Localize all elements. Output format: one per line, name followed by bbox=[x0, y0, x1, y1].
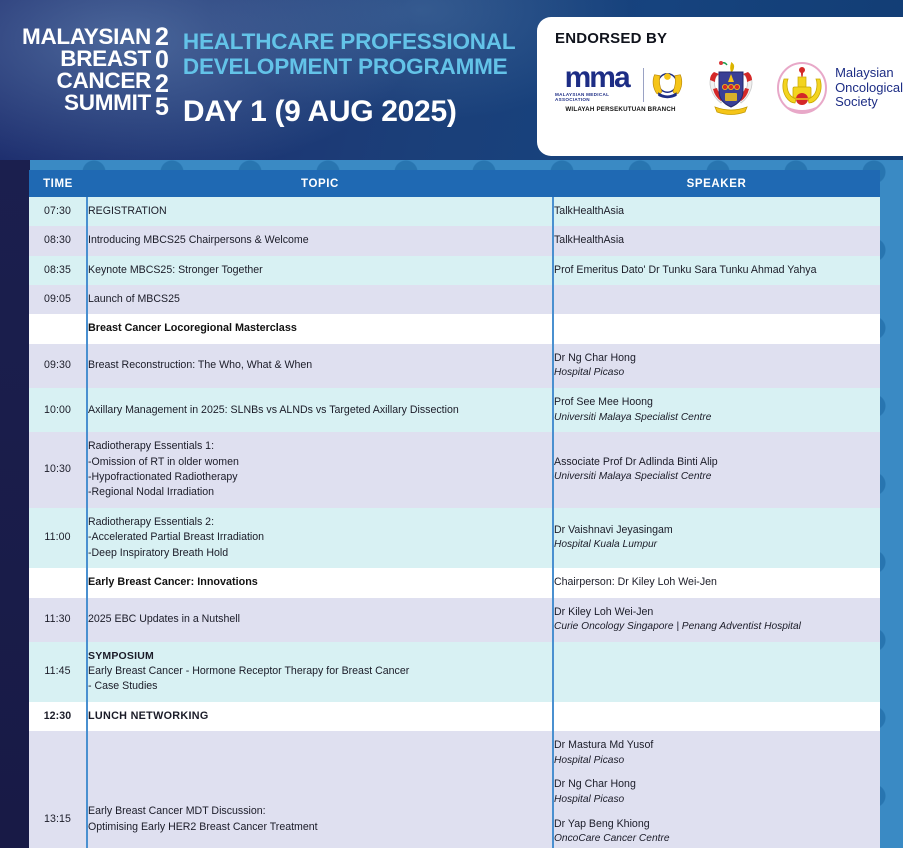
cell-speaker: Dr Vaishnavi JeyasingamHospital Kuala Lu… bbox=[553, 508, 880, 568]
cell-speaker: Chairperson: Dr Kiley Loh Wei-Jen bbox=[553, 568, 880, 598]
malaysian-oncological-society-logo: Malaysian Oncological Society bbox=[776, 61, 903, 115]
speaker-name: Dr Mastura Md Yusof bbox=[554, 738, 880, 753]
table-row: 10:00Axillary Management in 2025: SLNBs … bbox=[29, 388, 880, 432]
college-crest-logo bbox=[704, 59, 758, 117]
speaker-affiliation: Hospital Picaso bbox=[554, 754, 880, 769]
speaker-name: TalkHealthAsia bbox=[554, 233, 880, 248]
banner-titles: HEALTHCARE PROFESSIONAL DEVELOPMENT PROG… bbox=[183, 26, 516, 129]
cell-time: 10:30 bbox=[29, 432, 87, 507]
event-logo-year: 2 0 2 5 bbox=[155, 26, 169, 119]
agenda-page: MALAYSIAN BREAST CANCER SUMMIT 2 0 2 5 H… bbox=[0, 0, 903, 848]
schedule-table-body: 07:30REGISTRATIONTalkHealthAsia08:30Intr… bbox=[29, 197, 880, 848]
cell-topic: Introducing MBCS25 Chairpersons & Welcom… bbox=[87, 226, 553, 255]
logo-word-summit: SUMMIT bbox=[64, 92, 151, 114]
cell-time: 11:00 bbox=[29, 508, 87, 568]
column-header-topic: TOPIC bbox=[87, 170, 553, 197]
speaker-name: TalkHealthAsia bbox=[554, 204, 880, 219]
topic-line: -Deep Inspiratory Breath Hold bbox=[88, 546, 552, 561]
mma-logo: mma MALAYSIAN MEDICAL ASSOCIATION WILAYA… bbox=[555, 64, 686, 113]
speaker-entry: TalkHealthAsia bbox=[554, 204, 880, 219]
topic-line: Breast Reconstruction: The Who, What & W… bbox=[88, 358, 552, 373]
topic-line: -Accelerated Partial Breast Irradiation bbox=[88, 530, 552, 545]
topic-line: SYMPOSIUM bbox=[88, 649, 552, 664]
mos-line-2: Oncological bbox=[835, 81, 903, 96]
cell-speaker bbox=[553, 702, 880, 732]
table-row: 12:30LUNCH NETWORKING bbox=[29, 702, 880, 732]
topic-line: Radiotherapy Essentials 1: bbox=[88, 439, 552, 454]
topic-line: Early Breast Cancer - Hormone Receptor T… bbox=[88, 664, 552, 679]
mma-branch-label: WILAYAH PERSEKUTUAN BRANCH bbox=[565, 106, 675, 113]
cell-time bbox=[29, 568, 87, 598]
table-row: 11:45SYMPOSIUMEarly Breast Cancer - Horm… bbox=[29, 642, 880, 702]
endorser-logo-row: mma MALAYSIAN MEDICAL ASSOCIATION WILAYA… bbox=[555, 59, 903, 117]
table-row: 09:05Launch of MBCS25 bbox=[29, 285, 880, 314]
cell-speaker: TalkHealthAsia bbox=[553, 197, 880, 226]
topic-line: Keynote MBCS25: Stronger Together bbox=[88, 263, 552, 278]
topic-line: Early Breast Cancer MDT Discussion: bbox=[88, 804, 552, 819]
topic-line: -Hypofractionated Radiotherapy bbox=[88, 470, 552, 485]
speaker-entry: TalkHealthAsia bbox=[554, 233, 880, 248]
speaker-affiliation: Universiti Malaya Specialist Centre bbox=[554, 411, 880, 426]
cell-time: 11:30 bbox=[29, 598, 87, 642]
speaker-entry: Prof See Mee HoongUniversiti Malaya Spec… bbox=[554, 395, 880, 425]
cell-topic: Radiotherapy Essentials 1:-Omission of R… bbox=[87, 432, 553, 507]
speaker-entry: Dr Ng Char HongHospital Picaso bbox=[554, 351, 880, 381]
cell-topic: 2025 EBC Updates in a Nutshell bbox=[87, 598, 553, 642]
programme-title-line-2: DEVELOPMENT PROGRAMME bbox=[183, 54, 516, 79]
cell-topic: Keynote MBCS25: Stronger Together bbox=[87, 256, 553, 285]
cell-topic: Launch of MBCS25 bbox=[87, 285, 553, 314]
mos-crest-icon bbox=[776, 61, 828, 115]
endorsed-by-card: ENDORSED BY mma MALAYSIAN MEDICAL ASSOCI… bbox=[537, 17, 903, 156]
speaker-entry: Dr Ng Char HongHospital Picaso bbox=[554, 777, 880, 807]
speaker-affiliation: Hospital Picaso bbox=[554, 366, 880, 381]
topic-line: Introducing MBCS25 Chairpersons & Welcom… bbox=[88, 233, 552, 248]
speaker-name: Dr Ng Char Hong bbox=[554, 351, 880, 366]
cell-topic: Axillary Management in 2025: SLNBs vs AL… bbox=[87, 388, 553, 432]
cell-topic: SYMPOSIUMEarly Breast Cancer - Hormone R… bbox=[87, 642, 553, 702]
speaker-name: Chairperson: Dr Kiley Loh Wei-Jen bbox=[554, 575, 880, 590]
programme-title-line-1: HEALTHCARE PROFESSIONAL bbox=[183, 29, 516, 54]
table-row: Early Breast Cancer: InnovationsChairper… bbox=[29, 568, 880, 598]
cell-time: 09:05 bbox=[29, 285, 87, 314]
cell-topic: LUNCH NETWORKING bbox=[87, 702, 553, 732]
speaker-entry: Associate Prof Dr Adlinda Binti AlipUniv… bbox=[554, 455, 880, 485]
cell-topic: Breast Cancer Locoregional Masterclass bbox=[87, 314, 553, 344]
table-row: 11:302025 EBC Updates in a NutshellDr Ki… bbox=[29, 598, 880, 642]
event-logo-words: MALAYSIAN BREAST CANCER SUMMIT bbox=[22, 26, 151, 114]
speaker-name: Dr Ng Char Hong bbox=[554, 777, 880, 792]
speaker-name: Associate Prof Dr Adlinda Binti Alip bbox=[554, 455, 880, 470]
table-row: 10:30Radiotherapy Essentials 1:-Omission… bbox=[29, 432, 880, 507]
endorsed-by-title: ENDORSED BY bbox=[555, 30, 903, 47]
speaker-name: Dr Vaishnavi Jeyasingam bbox=[554, 523, 880, 538]
topic-line: REGISTRATION bbox=[88, 204, 552, 219]
speaker-entry: Prof Emeritus Dato' Dr Tunku Sara Tunku … bbox=[554, 263, 880, 278]
table-row: 13:15Early Breast Cancer MDT Discussion:… bbox=[29, 731, 880, 848]
speaker-affiliation: Hospital Kuala Lumpur bbox=[554, 538, 880, 553]
table-row: 07:30REGISTRATIONTalkHealthAsia bbox=[29, 197, 880, 226]
schedule-table: TIME TOPIC SPEAKER 07:30REGISTRATIONTalk… bbox=[29, 170, 880, 848]
speaker-affiliation: OncoCare Cancer Centre bbox=[554, 832, 880, 847]
topic-line: Optimising Early HER2 Breast Cancer Trea… bbox=[88, 820, 552, 835]
cell-topic: REGISTRATION bbox=[87, 197, 553, 226]
cell-speaker: Dr Kiley Loh Wei-JenCurie Oncology Singa… bbox=[553, 598, 880, 642]
cell-time: 13:15 bbox=[29, 731, 87, 848]
mos-line-1: Malaysian bbox=[835, 66, 903, 81]
table-header-row: TIME TOPIC SPEAKER bbox=[29, 170, 880, 197]
logo-year-digit-4: 5 bbox=[155, 96, 169, 119]
topic-line: Axillary Management in 2025: SLNBs vs AL… bbox=[88, 403, 552, 418]
cell-time: 12:30 bbox=[29, 702, 87, 732]
speaker-entry: Dr Mastura Md YusofHospital Picaso bbox=[554, 738, 880, 768]
cell-speaker: TalkHealthAsia bbox=[553, 226, 880, 255]
speaker-entry: Chairperson: Dr Kiley Loh Wei-Jen bbox=[554, 575, 880, 590]
speaker-entry: Dr Kiley Loh Wei-JenCurie Oncology Singa… bbox=[554, 605, 880, 635]
column-header-time: TIME bbox=[29, 170, 87, 197]
speaker-name: Prof Emeritus Dato' Dr Tunku Sara Tunku … bbox=[554, 263, 880, 278]
topic-line: Launch of MBCS25 bbox=[88, 292, 552, 307]
topic-line: -Regional Nodal Irradiation bbox=[88, 485, 552, 500]
mos-text-block: Malaysian Oncological Society bbox=[835, 66, 903, 110]
cell-topic: Radiotherapy Essentials 2:-Accelerated P… bbox=[87, 508, 553, 568]
logo-word-cancer: CANCER bbox=[57, 70, 151, 92]
cell-time: 11:45 bbox=[29, 642, 87, 702]
cell-speaker: Prof Emeritus Dato' Dr Tunku Sara Tunku … bbox=[553, 256, 880, 285]
event-logo: MALAYSIAN BREAST CANCER SUMMIT 2 0 2 5 bbox=[22, 26, 169, 119]
logo-word-breast: BREAST bbox=[60, 48, 151, 70]
table-row: 11:00Radiotherapy Essentials 2:-Accelera… bbox=[29, 508, 880, 568]
cell-speaker bbox=[553, 285, 880, 314]
mma-divider bbox=[643, 68, 644, 102]
cell-time: 08:30 bbox=[29, 226, 87, 255]
cell-time: 09:30 bbox=[29, 344, 87, 388]
cell-speaker: Dr Mastura Md YusofHospital PicasoDr Ng … bbox=[553, 731, 880, 848]
column-header-speaker: SPEAKER bbox=[553, 170, 880, 197]
speaker-entry: Dr Vaishnavi JeyasingamHospital Kuala Lu… bbox=[554, 523, 880, 553]
table-row: 08:30Introducing MBCS25 Chairpersons & W… bbox=[29, 226, 880, 255]
cell-speaker: Dr Ng Char HongHospital Picaso bbox=[553, 344, 880, 388]
schedule-table-container: TIME TOPIC SPEAKER 07:30REGISTRATIONTalk… bbox=[29, 170, 880, 848]
table-row: 09:30Breast Reconstruction: The Who, Wha… bbox=[29, 344, 880, 388]
cell-time: 08:35 bbox=[29, 256, 87, 285]
table-row: Breast Cancer Locoregional Masterclass bbox=[29, 314, 880, 344]
schedule-table-head: TIME TOPIC SPEAKER bbox=[29, 170, 880, 197]
cell-speaker bbox=[553, 642, 880, 702]
logo-word-malaysian: MALAYSIAN bbox=[22, 26, 151, 48]
cell-time: 10:00 bbox=[29, 388, 87, 432]
mma-letters: mma bbox=[565, 66, 629, 90]
speaker-affiliation: Universiti Malaya Specialist Centre bbox=[554, 470, 880, 485]
topic-line: Breast Cancer Locoregional Masterclass bbox=[88, 321, 552, 337]
cell-topic: Early Breast Cancer: Innovations bbox=[87, 568, 553, 598]
speaker-entry: Dr Yap Beng KhiongOncoCare Cancer Centre bbox=[554, 817, 880, 847]
day-title: DAY 1 (9 AUG 2025) bbox=[183, 95, 516, 129]
speaker-name: Prof See Mee Hoong bbox=[554, 395, 880, 410]
cell-topic: Early Breast Cancer MDT Discussion:Optim… bbox=[87, 731, 553, 848]
table-row: 08:35Keynote MBCS25: Stronger TogetherPr… bbox=[29, 256, 880, 285]
topic-line: Early Breast Cancer: Innovations bbox=[88, 575, 552, 591]
mma-subtitle: MALAYSIAN MEDICAL ASSOCIATION bbox=[555, 92, 638, 102]
topic-line: Radiotherapy Essentials 2: bbox=[88, 515, 552, 530]
college-crest-icon bbox=[704, 59, 758, 117]
topic-line: 2025 EBC Updates in a Nutshell bbox=[88, 612, 552, 627]
cell-speaker bbox=[553, 314, 880, 344]
speaker-affiliation: Curie Oncology Singapore | Penang Advent… bbox=[554, 620, 880, 635]
topic-line: - Case Studies bbox=[88, 679, 552, 694]
mos-line-3: Society bbox=[835, 95, 903, 110]
speaker-name: Dr Yap Beng Khiong bbox=[554, 817, 880, 832]
cell-time bbox=[29, 314, 87, 344]
logo-year-digit-2: 0 bbox=[155, 49, 169, 72]
cell-speaker: Associate Prof Dr Adlinda Binti AlipUniv… bbox=[553, 432, 880, 507]
federal-territory-emblem-icon bbox=[649, 64, 686, 102]
speaker-affiliation: Hospital Picaso bbox=[554, 793, 880, 808]
cell-time: 07:30 bbox=[29, 197, 87, 226]
cell-topic: Breast Reconstruction: The Who, What & W… bbox=[87, 344, 553, 388]
speaker-name: Dr Kiley Loh Wei-Jen bbox=[554, 605, 880, 620]
topic-line: LUNCH NETWORKING bbox=[88, 709, 552, 725]
cell-speaker: Prof See Mee HoongUniversiti Malaya Spec… bbox=[553, 388, 880, 432]
topic-line: -Omission of RT in older women bbox=[88, 455, 552, 470]
